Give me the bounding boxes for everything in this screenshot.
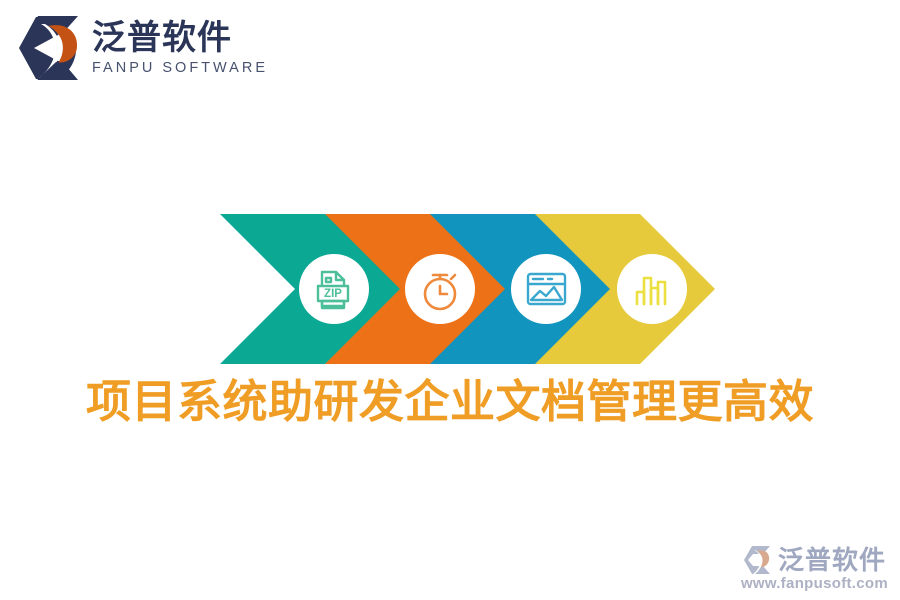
brand-logo[interactable]: 泛普软件 FANPU SOFTWARE <box>18 14 268 82</box>
watermark-url: www.fanpusoft.com <box>741 576 888 593</box>
step-badge-1[interactable]: ZIP <box>299 254 369 324</box>
zip-icon-label: ZIP <box>324 288 342 300</box>
watermark-name-cn: 泛普软件 <box>778 547 886 573</box>
page-headline: 项目系统助研发企业文档管理更高效 <box>0 374 900 430</box>
watermark-row: 泛普软件 <box>743 545 886 575</box>
brand-text-block: 泛普软件 FANPU SOFTWARE <box>92 19 268 77</box>
brand-name-cn: 泛普软件 <box>92 21 268 57</box>
chevron-step-banner: ZIP <box>0 214 900 364</box>
step-badge-3[interactable] <box>511 254 581 324</box>
step-badge-4[interactable] <box>617 254 687 324</box>
site-watermark: 泛普软件 www.fanpusoft.com <box>741 545 888 593</box>
step-badge-2[interactable] <box>405 254 475 324</box>
fanpu-watermark-logo-icon <box>743 545 773 575</box>
brand-name-en: FANPU SOFTWARE <box>92 60 268 77</box>
fanpu-hexagon-logo-icon <box>18 14 82 82</box>
